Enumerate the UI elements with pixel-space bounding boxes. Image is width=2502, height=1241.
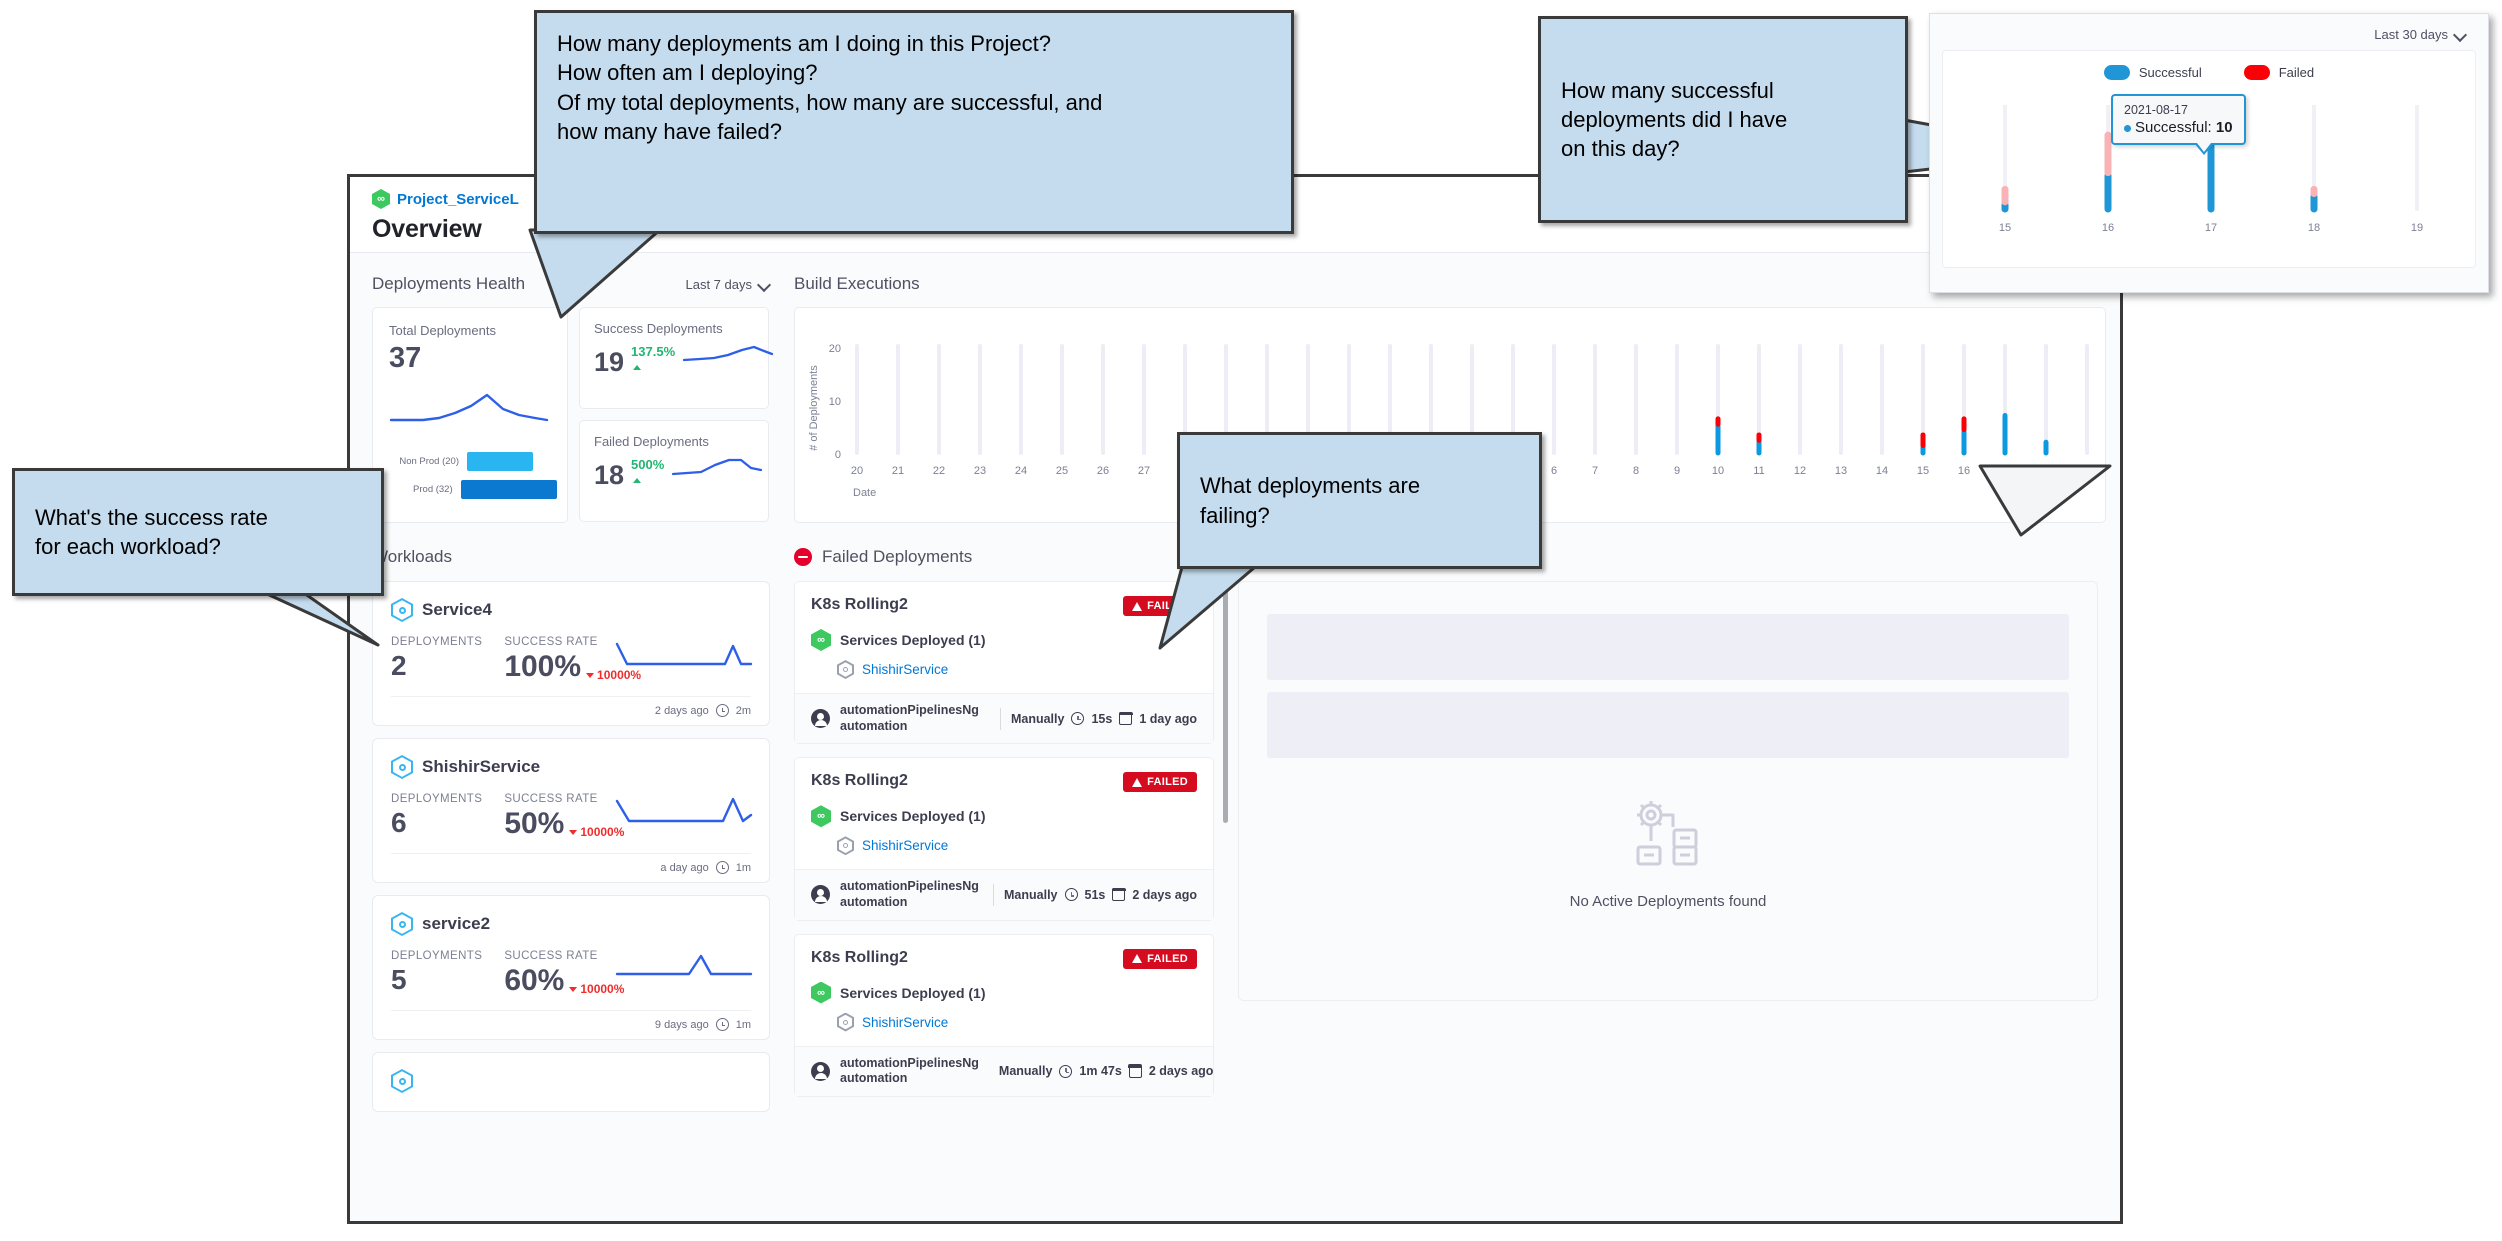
callout-deployments-questions: How many deployments am I doing in this … <box>534 10 1294 234</box>
svg-text:17: 17 <box>2205 222 2217 234</box>
popup-chart[interactable]: Successful Failed 1516171819 2021-08-17 … <box>1942 50 2476 268</box>
svg-text:18: 18 <box>2308 222 2320 234</box>
tooltip-value: Successful: 10 <box>2124 119 2233 136</box>
legend-swatch-successful <box>2104 65 2130 80</box>
last-30-days-popup[interactable]: Last 30 days Successful Failed 151617181… <box>1929 13 2489 293</box>
legend-item-failed[interactable]: Failed <box>2244 65 2314 80</box>
callout-successful-deployments-question: How many successful deployments did I ha… <box>1538 16 1908 223</box>
svg-text:15: 15 <box>1999 222 2011 234</box>
svg-text:16: 16 <box>2102 222 2114 234</box>
popup-header: Last 30 days <box>1930 14 2488 50</box>
callout-failing-deployments-question: What deployments are failing? <box>1177 432 1542 569</box>
tooltip-date: 2021-08-17 <box>2124 103 2233 117</box>
svg-text:19: 19 <box>2411 222 2423 234</box>
legend-label: Successful <box>2139 65 2202 80</box>
popup-range-picker[interactable]: Last 30 days <box>2374 27 2466 42</box>
callout-success-rate-question: What's the success rate for each workloa… <box>12 468 384 596</box>
popup-range-label: Last 30 days <box>2374 27 2448 42</box>
legend-item-successful[interactable]: Successful <box>2104 65 2202 80</box>
legend-label: Failed <box>2279 65 2314 80</box>
chevron-down-icon <box>2455 29 2466 40</box>
chart-legend: Successful Failed <box>1943 51 2475 80</box>
chart-tooltip: 2021-08-17 Successful: 10 <box>2111 94 2246 145</box>
legend-swatch-failed <box>2244 65 2270 80</box>
